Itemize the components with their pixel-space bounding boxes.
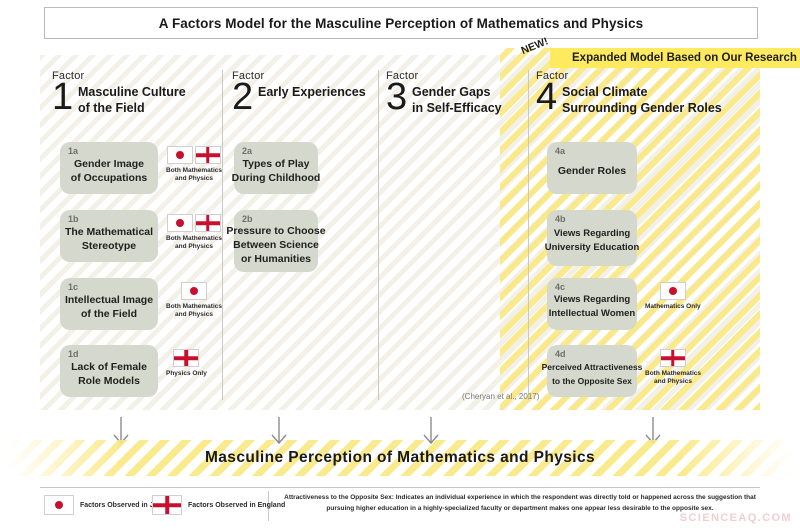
infographic-root: A Factors Model for the Masculine Percep… <box>0 0 800 530</box>
new-model-banner: Expanded Model Based on Our Research <box>550 48 800 68</box>
item-4a-label-line1: Gender Roles <box>558 164 626 178</box>
factor-1-number: 1 <box>52 80 78 114</box>
england-flag-icon <box>660 349 686 367</box>
factor-3-title-line2: in Self-Efficacy <box>412 100 502 116</box>
item-2b-label-line3: or Humanities <box>241 252 311 266</box>
item-1c-flags <box>181 282 207 300</box>
japan-flag-icon <box>660 282 686 300</box>
item-4b-card[interactable]: 4b Views Regarding University Education <box>547 210 637 266</box>
factor-4-header: Factor 4 Social Climate Surrounding Gend… <box>536 70 752 130</box>
item-4d-label-line1: Perceived Attractiveness <box>542 360 643 374</box>
item-1d-card[interactable]: 1d Lack of Female Role Models <box>60 345 158 397</box>
item-1a[interactable]: 1a Gender Image of Occupations Both Math… <box>60 142 222 194</box>
item-4a-card[interactable]: 4a Gender Roles <box>547 142 637 194</box>
england-flag-icon <box>152 495 182 515</box>
item-1d-flagbox: Physics Only <box>166 345 207 378</box>
factor-column-3: Factor 3 Gender Gaps in Self-Efficacy <box>386 70 536 130</box>
japan-flag-icon <box>181 282 207 300</box>
factor-4-title-line1: Social Climate <box>562 84 722 100</box>
item-4c-card[interactable]: 4c Views Regarding Intellectual Women <box>547 278 637 330</box>
factor-1-header: Factor 1 Masculine Culture of the Field <box>52 70 224 130</box>
factor-1-title-line1: Masculine Culture <box>78 84 186 100</box>
item-1c-code: 1c <box>68 282 78 292</box>
item-1b-card[interactable]: 1b The Mathematical Stereotype <box>60 210 158 262</box>
item-4c-flag-note: Mathematics Only <box>645 303 701 311</box>
item-1c-label-line1: Intellectual Image <box>65 293 153 307</box>
item-2a-code: 2a <box>242 146 252 156</box>
footnote: Attractiveness to the Opposite Sex: Indi… <box>280 492 760 514</box>
item-4c-flags <box>660 282 686 300</box>
item-2b-card[interactable]: 2b Pressure to Choose Between Science or… <box>234 210 318 272</box>
factor-4-title-line2: Surrounding Gender Roles <box>562 100 722 116</box>
item-1a-label-line2: of Occupations <box>71 171 147 185</box>
item-2a-label-line2: During Childhood <box>232 171 321 185</box>
item-4d-flags <box>660 349 686 367</box>
england-flag-icon <box>195 214 221 232</box>
item-1c-card[interactable]: 1c Intellectual Image of the Field <box>60 278 158 330</box>
factor-4-title: Social Climate Surrounding Gender Roles <box>562 80 722 116</box>
item-4c-label-line1: Views Regarding <box>554 293 630 307</box>
legend-england-label: Factors Observed in England <box>188 502 285 509</box>
factor-column-4: Factor 4 Social Climate Surrounding Gend… <box>536 70 752 130</box>
item-2b-code: 2b <box>242 214 253 224</box>
page-title: A Factors Model for the Masculine Percep… <box>159 16 643 31</box>
item-4b[interactable]: 4b Views Regarding University Education <box>547 210 637 266</box>
item-2b-label-line1: Pressure to Choose <box>226 224 325 238</box>
item-1b-flag-note: Both Mathematics and Physics <box>166 235 222 251</box>
japan-flag-icon <box>167 146 193 164</box>
item-1a-code: 1a <box>68 146 78 156</box>
item-4d-flagbox: Both Mathematics and Physics <box>645 345 701 386</box>
item-1d-flags <box>173 349 199 367</box>
item-1a-label-line1: Gender Image <box>74 157 144 171</box>
item-4b-label-line1: Views Regarding <box>554 227 630 241</box>
item-1a-flag-note: Both Mathematics and Physics <box>166 167 222 183</box>
item-4c-label-line2: Intellectual Women <box>549 307 635 321</box>
new-model-label: Expanded Model Based on Our Research <box>572 52 797 64</box>
item-1c-flagbox: Both Mathematics and Physics <box>166 278 222 319</box>
japan-flag-icon <box>167 214 193 232</box>
item-4d[interactable]: 4d Perceived Attractiveness to the Oppos… <box>547 345 701 397</box>
item-1a-card[interactable]: 1a Gender Image of Occupations <box>60 142 158 194</box>
item-1a-flags <box>167 146 221 164</box>
item-1d-code: 1d <box>68 349 79 359</box>
footnote-line1: Attractiveness to the Opposite Sex: Indi… <box>280 492 760 503</box>
citation-label: (Cheryan et al., 2017) <box>462 392 539 401</box>
factor-3-title: Gender Gaps in Self-Efficacy <box>412 80 502 116</box>
factor-2-number: 2 <box>232 80 258 114</box>
factor-column-1: Factor 1 Masculine Culture of the Field <box>52 70 224 130</box>
item-1c-label-line2: of the Field <box>81 307 137 321</box>
item-1b-flagbox: Both Mathematics and Physics <box>166 210 222 251</box>
item-2b-label-line2: Between Science <box>233 238 319 252</box>
footer-rule <box>40 487 760 488</box>
item-1c-flag-note: Both Mathematics and Physics <box>166 303 222 319</box>
item-4c-code: 4c <box>555 282 565 292</box>
england-flag-icon <box>173 349 199 367</box>
factor-3-number: 3 <box>386 80 412 114</box>
item-1b-code: 1b <box>68 214 79 224</box>
title-box: A Factors Model for the Masculine Percep… <box>44 7 758 39</box>
item-2a[interactable]: 2a Types of Play During Childhood <box>234 142 318 194</box>
footer: Factors Observed in Japan Factors Observ… <box>40 487 760 527</box>
factor-3-header: Factor 3 Gender Gaps in Self-Efficacy <box>386 70 536 130</box>
item-1d-flag-note: Physics Only <box>166 370 207 378</box>
item-4b-code: 4b <box>555 214 566 224</box>
japan-flag-icon <box>44 495 74 515</box>
item-1b-label-line2: Stereotype <box>82 239 136 253</box>
item-4b-label-line2: University Education <box>545 241 640 255</box>
item-1b[interactable]: 1b The Mathematical Stereotype Both Math… <box>60 210 222 262</box>
item-1b-flags <box>167 214 221 232</box>
factor-2-title: Early Experiences <box>258 80 366 100</box>
factor-2-title-line1: Early Experiences <box>258 84 366 100</box>
factor-column-2: Factor 2 Early Experiences <box>232 70 382 130</box>
england-flag-icon <box>195 146 221 164</box>
item-2a-card[interactable]: 2a Types of Play During Childhood <box>234 142 318 194</box>
item-1b-label-line1: The Mathematical <box>65 225 153 239</box>
factor-4-number: 4 <box>536 80 562 114</box>
factor-1-title-line2: of the Field <box>78 100 186 116</box>
legend-england: Factors Observed in England <box>152 495 285 515</box>
item-1d-label-line1: Lack of Female <box>71 360 147 374</box>
item-1d[interactable]: 1d Lack of Female Role Models Physics On… <box>60 345 207 397</box>
outcome-banner-text: Masculine Perception of Mathematics and … <box>8 440 792 476</box>
item-1c[interactable]: 1c Intellectual Image of the Field Both … <box>60 278 222 330</box>
factor-3-title-line1: Gender Gaps <box>412 84 502 100</box>
watermark: SCIENCEAQ.COM <box>680 512 792 524</box>
outcome-banner: Masculine Perception of Mathematics and … <box>8 440 792 476</box>
item-4c[interactable]: 4c Views Regarding Intellectual Women Ma… <box>547 278 701 330</box>
item-2b[interactable]: 2b Pressure to Choose Between Science or… <box>234 210 318 272</box>
factor-1-title: Masculine Culture of the Field <box>78 80 186 116</box>
item-1d-label-line2: Role Models <box>78 374 140 388</box>
item-4d-label-line2: to the Opposite Sex <box>552 374 632 388</box>
item-4a-code: 4a <box>555 146 565 156</box>
item-4c-flagbox: Mathematics Only <box>645 278 701 311</box>
item-4d-flag-note: Both Mathematics and Physics <box>645 370 701 386</box>
item-4d-code: 4d <box>555 349 566 359</box>
item-1a-flagbox: Both Mathematics and Physics <box>166 142 222 183</box>
legend-japan: Factors Observed in Japan <box>44 495 170 515</box>
item-2a-label-line1: Types of Play <box>243 157 310 171</box>
item-4a[interactable]: 4a Gender Roles <box>547 142 637 194</box>
factor-2-header: Factor 2 Early Experiences <box>232 70 382 130</box>
item-4d-card[interactable]: 4d Perceived Attractiveness to the Oppos… <box>547 345 637 397</box>
